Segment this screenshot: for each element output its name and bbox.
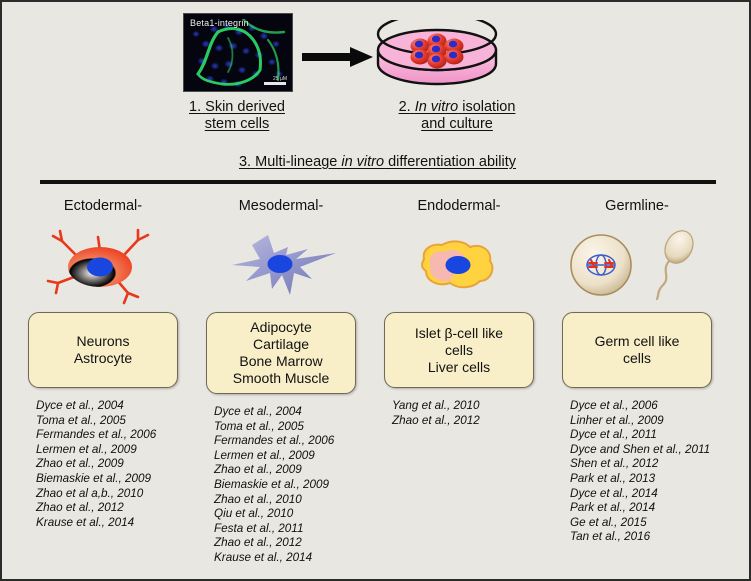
column-header-germline: Germline- — [548, 198, 726, 222]
figure-panel: Beta1-integrin 25 µM — [0, 0, 751, 581]
petri-dish-illustration — [374, 20, 500, 92]
lineage-item: Neurons — [77, 333, 130, 350]
reference-item: Yang et al., 2010 — [392, 399, 548, 414]
neuron-illustration — [14, 222, 192, 310]
reference-item: Dyce et al., 2006 — [570, 399, 726, 414]
reference-item: Biemaskie et al., 2009 — [214, 478, 370, 493]
lineage-column-endodermal: Endodermal- Islet β-cell like cells Live… — [370, 198, 548, 428]
step-2-line2: and culture — [421, 116, 493, 132]
reference-item: Fermandes et al., 2006 — [214, 434, 370, 449]
lineage-item: Smooth Muscle — [233, 370, 329, 387]
micrograph-label: Beta1-integrin — [190, 18, 249, 28]
step-1-line2: stem cells — [205, 116, 269, 132]
step-2-number: 2. — [399, 99, 411, 115]
scale-bar-label: 25 µM — [273, 76, 287, 82]
section-3-italic: in vitro — [341, 154, 384, 170]
reference-item: Park et al., 2013 — [570, 472, 726, 487]
reference-item: Linher et al., 2009 — [570, 414, 726, 429]
reference-item: Lermen et al., 2009 — [214, 449, 370, 464]
oocyte-and-sperm-icon — [557, 223, 717, 309]
step-1-line1: Skin derived — [205, 99, 285, 115]
reference-item: Zhao et al., 2009 — [36, 457, 192, 472]
lineage-item: Islet β-cell like — [415, 325, 503, 342]
hepatocyte-illustration — [370, 222, 548, 310]
reference-item: Toma et al., 2005 — [214, 420, 370, 435]
lineage-item: Astrocyte — [74, 350, 132, 367]
reference-item: Park et al., 2014 — [570, 501, 726, 516]
mesenchymal-cell-icon — [216, 223, 346, 309]
reference-item: Zhao et al., 2012 — [214, 536, 370, 551]
reference-item: Tan et al., 2016 — [570, 530, 726, 545]
lineage-item: Germ cell like — [595, 333, 680, 350]
reference-item: Festa et al., 2011 — [214, 522, 370, 537]
reference-list-mesodermal: Dyce et al., 2004 Toma et al., 2005 Ferm… — [192, 405, 370, 566]
lineage-item: Cartilage — [253, 336, 309, 353]
cultured-cells — [411, 34, 464, 69]
lineage-item: cells — [445, 342, 473, 359]
step-2-caption: 2. In vitro isolation and culture — [372, 99, 542, 133]
lineage-box-mesodermal: Adipocyte Cartilage Bone Marrow Smooth M… — [206, 312, 356, 394]
lineage-box-endodermal: Islet β-cell like cells Liver cells — [384, 312, 534, 388]
micrograph-image: Beta1-integrin 25 µM — [183, 13, 293, 92]
reference-item: Zhao et al., 2010 — [214, 493, 370, 508]
lineage-column-mesodermal: Mesodermal- Adipocyte Cartilage Bone Mar… — [192, 198, 370, 566]
arrow-right-icon — [302, 46, 374, 68]
column-header-endodermal: Endodermal- — [370, 198, 548, 222]
petri-dish-icon — [374, 20, 500, 92]
lineage-box-ectodermal: Neurons Astrocyte — [28, 312, 178, 388]
reference-item: Krause et al., 2014 — [214, 551, 370, 566]
lineage-item: cells — [623, 350, 651, 367]
reference-item: Dyce et al., 2004 — [214, 405, 370, 420]
reference-item: Fermandes et al., 2006 — [36, 428, 192, 443]
section-divider-rule — [40, 180, 716, 184]
reference-item: Lermen et al., 2009 — [36, 443, 192, 458]
hepatocyte-cell-icon — [394, 223, 524, 309]
reference-item: Zhao et al., 2009 — [214, 463, 370, 478]
lineage-box-germline: Germ cell like cells — [562, 312, 712, 388]
step-2-line1-rest: isolation — [462, 99, 515, 115]
reference-item: Dyce et al., 2014 — [570, 487, 726, 502]
sperm-cell — [657, 226, 698, 299]
lineage-column-ectodermal: Ectodermal- — [14, 198, 192, 530]
reference-item: Toma et al., 2005 — [36, 414, 192, 429]
workflow-arrow — [302, 46, 374, 68]
section-3-number: 3. — [239, 154, 251, 170]
section-3-heading: 3. Multi-lineage in vitro differentiatio… — [2, 154, 751, 170]
reference-item: Biemaskie et al., 2009 — [36, 472, 192, 487]
reference-list-endodermal: Yang et al., 2010 Zhao et al., 2012 — [370, 399, 548, 428]
reference-item: Dyce and Shen et al., 2011 — [570, 443, 726, 458]
reference-item: Krause et al., 2014 — [36, 516, 192, 531]
scale-bar-icon — [264, 82, 286, 85]
reference-list-ectodermal: Dyce et al., 2004 Toma et al., 2005 Ferm… — [14, 399, 192, 530]
germline-illustration — [548, 222, 726, 310]
lineage-item: Adipocyte — [250, 319, 311, 336]
reference-item: Zhao et al a,b., 2010 — [36, 487, 192, 502]
lineage-item: Liver cells — [428, 359, 490, 376]
reference-list-germline: Dyce et al., 2006 Linher et al., 2009 Dy… — [548, 399, 726, 545]
column-header-ectodermal: Ectodermal- — [14, 198, 192, 222]
reference-item: Shen et al., 2012 — [570, 457, 726, 472]
reference-item: Zhao et al., 2012 — [36, 501, 192, 516]
step-1-caption: 1. Skin derived stem cells — [162, 99, 312, 133]
reference-item: Ge et al., 2015 — [570, 516, 726, 531]
neuron-cell-icon — [38, 223, 168, 309]
mesenchymal-illustration — [192, 222, 370, 310]
lineage-column-germline: Germline- — [548, 198, 726, 545]
reference-item: Zhao et al., 2012 — [392, 414, 548, 429]
reference-item: Qiu et al., 2010 — [214, 507, 370, 522]
section-3-text-before: Multi-lineage — [255, 154, 341, 170]
step-1-number: 1. — [189, 99, 201, 115]
reference-item: Dyce et al., 2011 — [570, 428, 726, 443]
reference-item: Dyce et al., 2004 — [36, 399, 192, 414]
section-3-text-after: differentiation ability — [384, 154, 516, 170]
lineage-item: Bone Marrow — [239, 353, 322, 370]
step-2-italic: In vitro — [415, 99, 459, 115]
column-header-mesodermal: Mesodermal- — [192, 198, 370, 222]
